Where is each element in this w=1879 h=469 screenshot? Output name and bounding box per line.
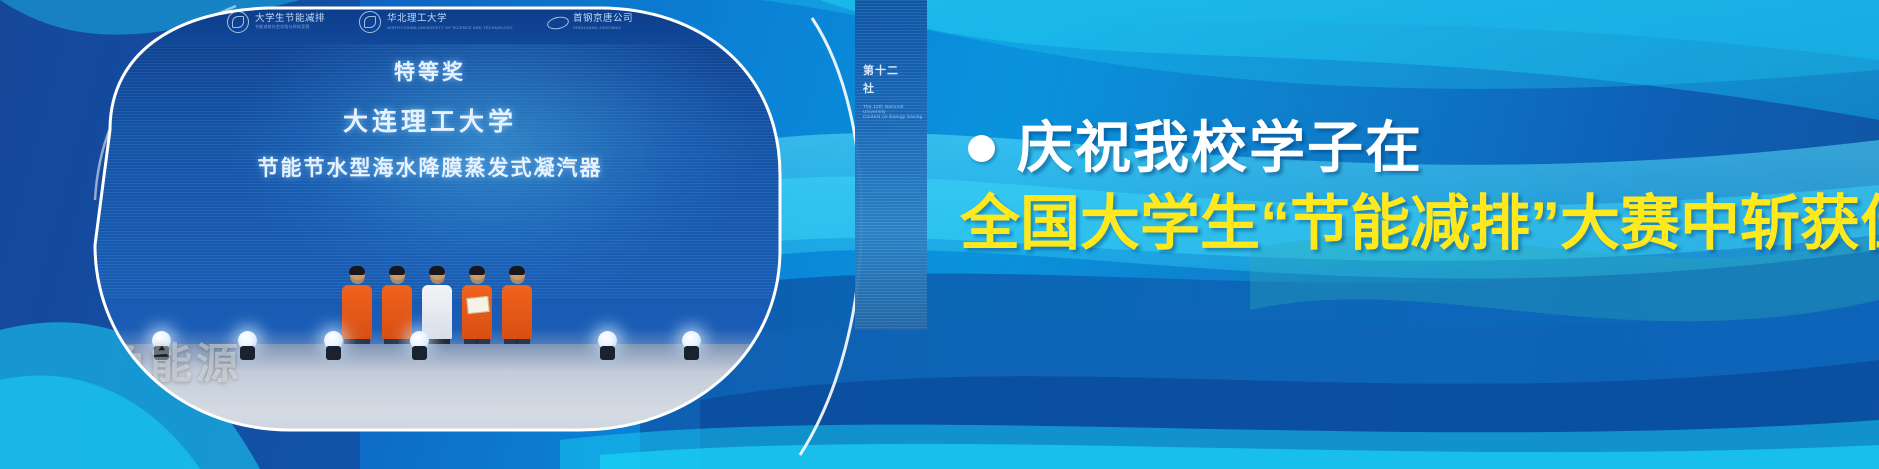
sponsor-logo-2-text-group: 华北理工大学 NORTH CHINA UNIVERSITY OF SCIENCE… xyxy=(387,14,513,30)
stage-light-4 xyxy=(408,331,432,361)
saturn-icon xyxy=(547,12,567,32)
person-torso xyxy=(502,285,532,339)
poster-line-2: 社 xyxy=(863,80,875,96)
stage-light-3 xyxy=(322,331,346,361)
light-body xyxy=(684,346,699,360)
sponsor-logo-3-name: 首钢京唐公司 xyxy=(573,14,633,25)
floor-reflection-4 xyxy=(520,449,566,461)
event-poster-strip: 第十二 社 The 12th National University Conte… xyxy=(855,0,927,330)
person-head xyxy=(350,267,365,284)
banner-headline: 庆祝我校学子在 全国大学生“节能减排”大赛中斩获佳绩 xyxy=(960,118,1860,257)
stage-scene: 大学生节能减排 节能减排社会实践与科技竞赛 华北理工大学 NORTH CHINA… xyxy=(40,0,820,469)
person-head xyxy=(510,267,525,284)
winning-university: 大连理工大学 xyxy=(40,102,820,138)
sponsor-logo-1-name: 大学生节能减排 xyxy=(255,14,325,25)
sponsor-logo-2-name: 华北理工大学 xyxy=(387,14,513,25)
sponsor-logo-2: 华北理工大学 NORTH CHINA UNIVERSITY OF SCIENCE… xyxy=(359,11,513,33)
led-screen-text: 特等奖 大连理工大学 节能节水型海水降膜蒸发式凝汽器 xyxy=(40,56,820,182)
poster-sub-1: The 12th National University xyxy=(863,104,927,114)
sponsor-logo-3: 首钢京唐公司 SHOUGANG JINGTANG xyxy=(547,12,633,32)
sponsor-logo-3-text-group: 首钢京唐公司 SHOUGANG JINGTANG xyxy=(573,14,633,30)
light-body xyxy=(412,346,427,360)
person-hair xyxy=(349,266,365,275)
person-hair xyxy=(429,266,445,275)
award-level: 特等奖 xyxy=(40,56,820,86)
person-torso xyxy=(462,285,492,339)
floor-reflection-2 xyxy=(290,449,336,461)
sponsor-logo-1-text-group: 大学生节能减排 节能减排社会实践与科技竞赛 xyxy=(255,14,325,31)
sponsor-logo-bar: 大学生节能减排 节能减排社会实践与科技竞赛 华北理工大学 NORTH CHINA… xyxy=(40,0,820,44)
sponsor-logo-1-sub: 节能减排社会实践与科技竞赛 xyxy=(255,24,325,30)
person-hair xyxy=(389,266,405,275)
floor-reflection-5 xyxy=(630,449,676,461)
person-head xyxy=(470,267,485,284)
person-head xyxy=(430,267,445,284)
person-hair xyxy=(509,266,525,275)
light-body xyxy=(600,346,615,360)
leaf-icon xyxy=(227,11,249,33)
bullet-dot-icon xyxy=(968,135,995,162)
floor-reflection-1 xyxy=(180,449,226,461)
headline-line-2: 全国大学生“节能减排”大赛中斩获佳绩 xyxy=(960,192,1860,257)
sponsor-logo-2-sub: NORTH CHINA UNIVERSITY OF SCIENCE AND TE… xyxy=(387,25,513,30)
stage-light-5 xyxy=(596,331,620,361)
sponsor-logo-1: 大学生节能减排 节能减排社会实践与科技竞赛 xyxy=(227,11,325,33)
poster-line-1: 第十二 xyxy=(863,62,899,78)
sponsor-logo-3-sub: SHOUGANG JINGTANG xyxy=(573,25,633,30)
light-body xyxy=(326,346,341,360)
person-hair xyxy=(469,266,485,275)
crest-icon xyxy=(359,11,381,33)
winning-project: 节能节水型海水降膜蒸发式凝汽器 xyxy=(40,152,820,182)
promotional-banner: 第十二 社 The 12th National University Conte… xyxy=(0,0,1879,469)
floor-reflection-3 xyxy=(410,449,456,461)
award-ceremony-photo: 大学生节能减排 节能减排社会实践与科技竞赛 华北理工大学 NORTH CHINA… xyxy=(40,0,820,469)
headline-line-1: 庆祝我校学子在 xyxy=(1017,118,1423,178)
person-head xyxy=(390,267,405,284)
person-torso xyxy=(342,285,372,339)
poster-sub-2: Contest on Energy Saving xyxy=(863,114,922,119)
light-body xyxy=(240,346,255,360)
headline-row-primary: 庆祝我校学子在 xyxy=(960,118,1860,178)
award-certificate xyxy=(466,296,490,314)
led-screen: 大学生节能减排 节能减排社会实践与科技竞赛 华北理工大学 NORTH CHINA… xyxy=(40,0,820,300)
photo-clip-mask: 大学生节能减排 节能减排社会实践与科技竞赛 华北理工大学 NORTH CHINA… xyxy=(40,0,820,469)
photo-watermark: 绿色能源 xyxy=(58,330,242,391)
stage-light-6 xyxy=(680,331,704,361)
